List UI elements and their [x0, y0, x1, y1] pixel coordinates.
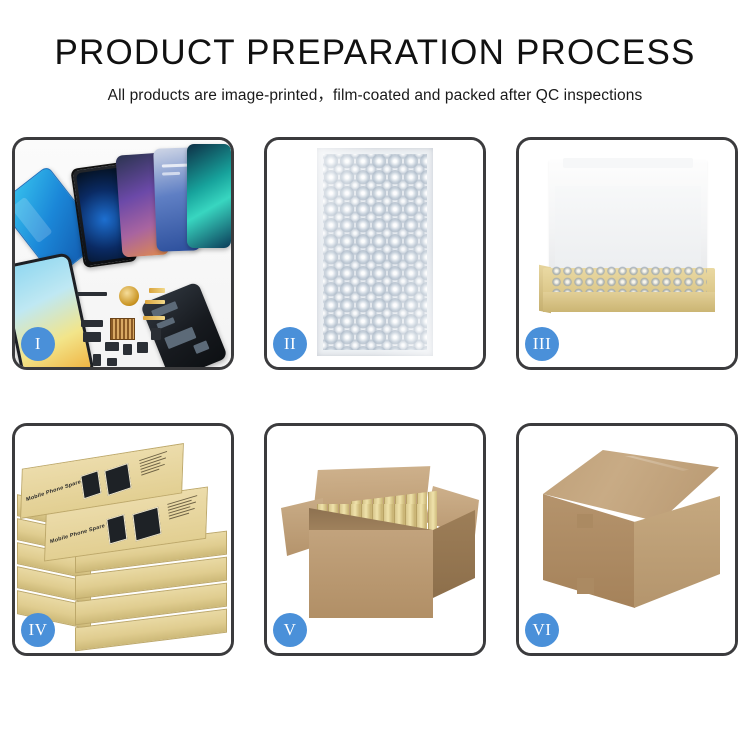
step-panel-1: I: [12, 137, 234, 370]
step-panel-5: V: [264, 423, 486, 656]
step-badge-2: II: [273, 327, 307, 361]
carton-tape-tab-top: [577, 514, 593, 528]
carton-front-face: [309, 530, 433, 618]
spare-parts-cluster: [77, 280, 187, 367]
bubble-wrapped-item: [317, 148, 433, 356]
speaker-coil-part: [119, 286, 139, 306]
bubble-wrap-inside-box: [551, 266, 707, 292]
box-inner-panel: [555, 186, 701, 272]
product-preparation-infographic: PRODUCT PREPARATION PROCESS All products…: [0, 0, 750, 750]
step-panel-2: II: [264, 137, 486, 370]
box-front-wall: [543, 292, 715, 312]
page-subtitle: All products are image-printed，film-coat…: [0, 83, 750, 105]
box-stack: Mobile Phone Spare Parts Mobile Phone Sp…: [17, 444, 231, 644]
step-badge-1: I: [21, 327, 55, 361]
step-badge-5: V: [273, 613, 307, 647]
step-panel-3: III: [516, 137, 738, 370]
step-badge-4: IV: [21, 613, 55, 647]
plastic-sheen: [317, 148, 433, 356]
step-panel-6: VI: [516, 423, 738, 656]
connector-grid-part: [110, 318, 135, 340]
header: PRODUCT PREPARATION PROCESS All products…: [0, 0, 750, 105]
steps-grid: I II III: [12, 137, 738, 656]
step-badge-6: VI: [525, 613, 559, 647]
phone-teal-wave: [187, 144, 231, 248]
box-lid-tab: [563, 158, 693, 168]
carton-tape-tab-bottom: [577, 578, 594, 594]
page-title: PRODUCT PREPARATION PROCESS: [0, 32, 750, 74]
sealed-carton: [533, 450, 727, 628]
step-badge-3: III: [525, 327, 559, 361]
step-panel-4: Mobile Phone Spare Parts Mobile Phone Sp…: [12, 423, 234, 656]
open-carton: [285, 452, 475, 628]
